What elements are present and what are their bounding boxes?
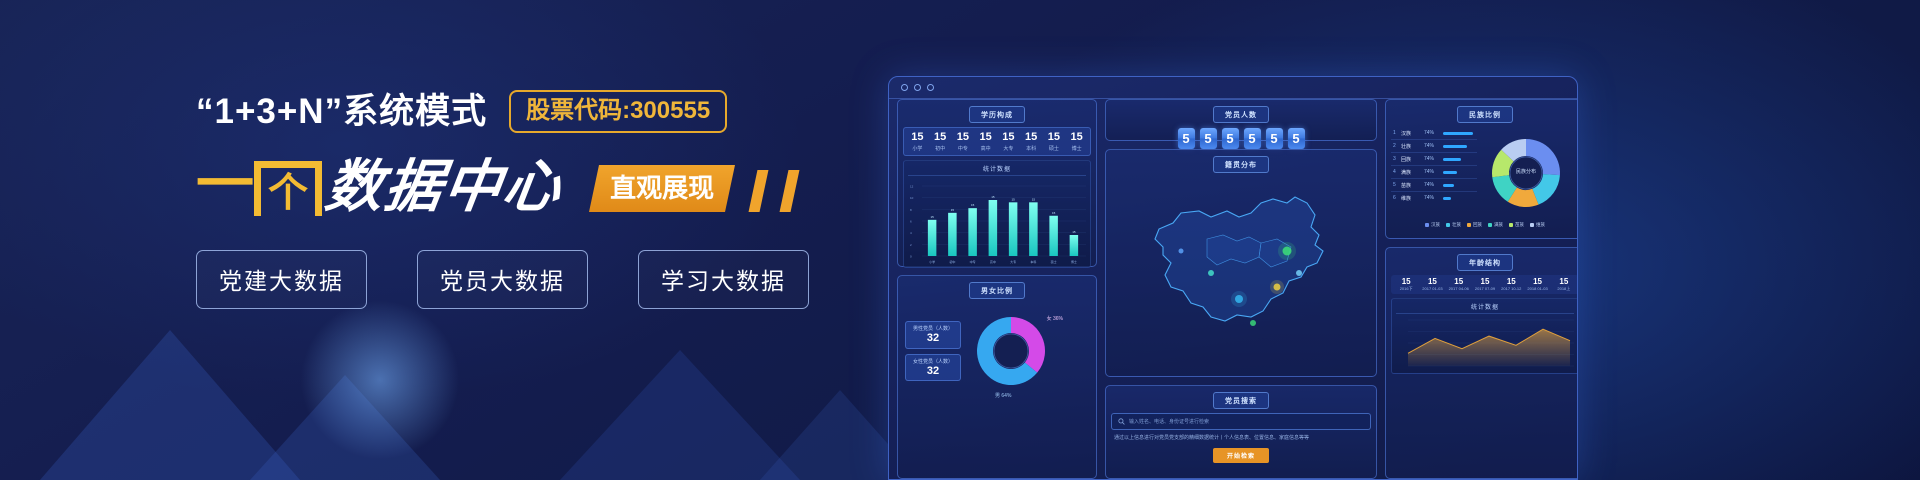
metric-value: 15 [1071,132,1083,144]
row-bar [1443,158,1461,161]
metric-value: 15 [1446,278,1472,286]
age-metric-row: 15 2016下 15 2017 01-03 15 2017 04-06 1 [1391,275,1578,294]
search-icon [1118,418,1125,425]
row-name: 壮族 [1401,143,1421,150]
count-digit: 5 [1288,128,1305,149]
headline-row-2: 一 个 数据中心 直观展现 [196,150,836,216]
gender-male-stat: 男性党员（人数） 32 [905,321,961,348]
row-name: 汉族 [1401,130,1421,137]
panel-gender-title: 男女比例 [969,282,1025,299]
dashboard-column-center: 党员人数 5 5 5 5 5 5 籍贯分布 [1105,99,1377,479]
svg-text:15: 15 [930,214,934,218]
gender-female-value: 32 [912,365,954,377]
dashboard-mockup: 学历构成 15 小学 15 初中 15 中专 [888,76,1578,480]
panel-education: 学历构成 15 小学 15 初中 15 中专 [897,99,1097,267]
metric-item: 15 2016下 [1393,278,1419,292]
dashboard-column-left: 学历构成 15 小学 15 初中 15 中专 [897,99,1097,479]
legend-entry: 壮族 [1446,222,1461,228]
system-mode-text: “1+3+N”系统模式 [196,92,487,131]
row-pct: 74% [1424,130,1440,136]
row-name: 苗族 [1401,182,1421,189]
metric-item: 15 2017 01-03 [1419,278,1445,292]
svg-text:15: 15 [991,195,995,199]
list-item: 2 壮族 74% [1391,140,1477,153]
row-pct: 74% [1424,169,1440,175]
metric-item: 15 2017 10-12 [1498,278,1524,292]
row-index: 6 [1393,195,1398,201]
svg-text:0: 0 [910,254,912,258]
row-index: 1 [1393,130,1398,136]
legend-swatch [1467,223,1471,227]
metric-value: 15 [980,132,992,144]
metric-value: 15 [934,132,946,144]
legend-swatch [1530,223,1534,227]
count-digit: 5 [1222,128,1239,149]
svg-text:8: 8 [910,207,912,211]
list-item: 5 苗族 74% [1391,179,1477,192]
legend-entry: 汉族 [1425,222,1440,228]
legend-entry: 满族 [1488,222,1503,228]
panel-age-title: 年龄结构 [1457,254,1513,271]
metric-label: 2017 10-12 [1498,286,1524,291]
legend-swatch [1446,223,1450,227]
metric-item: 15 高中 [980,132,992,152]
svg-text:初中: 初中 [949,259,955,264]
gender-male-label: 男性党员（人数） [912,325,954,332]
metric-value: 15 [1524,278,1550,286]
promo-banner: “1+3+N”系统模式 股票代码:300555 一 个 数据中心 直观展现 党建… [0,0,1920,480]
metric-item: 15 硕士 [1048,132,1060,152]
row-bar [1443,197,1451,200]
row-pct: 74% [1424,156,1440,162]
list-item: 4 满族 74% [1391,166,1477,179]
stock-code-badge: 股票代码:300555 [509,90,727,133]
legend-label: 回族 [1473,222,1482,228]
panel-member-count-title: 党员人数 [1213,106,1269,123]
metric-label: 2018 01-03 [1524,286,1550,291]
svg-text:12: 12 [910,184,914,188]
ethnic-donut-center-label: 民族分布 [1480,168,1572,175]
metric-value: 15 [1048,132,1060,144]
list-item: 3 回族 74% [1391,153,1477,166]
metric-label: 高中 [980,145,992,152]
svg-text:6: 6 [910,219,912,223]
metric-label: 小学 [911,145,923,152]
decor-slash-1 [749,170,769,212]
metric-label: 2017 04-06 [1446,286,1472,291]
svg-text:15: 15 [951,207,955,211]
list-item: 6 维族 74% [1391,192,1477,204]
decor-glow [300,300,460,460]
panel-member-search: 党员搜索 输入姓名、电话、身份证号进行检索 通过以上信息进行对党员党支部的精细数… [1105,385,1377,479]
gender-stats: 男性党员（人数） 32 女性党员（人数） 32 [905,321,961,380]
svg-text:博士: 博士 [1071,259,1077,264]
metric-label: 2017 07-09 [1472,286,1498,291]
education-metric-row: 15 小学 15 初中 15 中专 15 高中 [903,127,1091,156]
metric-label: 大专 [1002,145,1014,152]
panel-search-title: 党员搜索 [1213,392,1269,409]
dashboard-column-right: 民族比例 1 汉族 74% 2 壮族 [1385,99,1578,479]
svg-text:2: 2 [910,242,912,246]
headline-yi: 一 [196,156,252,214]
row-name: 回族 [1401,156,1421,163]
pill-study-bigdata[interactable]: 学习大数据 [638,250,809,309]
show-badge: 直观展现 [589,165,735,212]
row-pct: 74% [1424,195,1440,201]
metric-item: 15 初中 [934,132,946,152]
search-placeholder: 输入姓名、电话、身份证号进行检索 [1129,418,1209,425]
legend-entry: 苗族 [1509,222,1524,228]
metric-item: 15 中专 [957,132,969,152]
metric-value: 15 [1393,278,1419,286]
row-index: 5 [1393,182,1398,188]
pill-party-member-bigdata[interactable]: 党员大数据 [417,250,588,309]
panel-ethnic: 民族比例 1 汉族 74% 2 壮族 [1385,99,1578,239]
legend-label: 满族 [1494,222,1503,228]
metric-item: 15 本科 [1025,132,1037,152]
dashboard-titlebar [889,77,1577,99]
row-pct: 74% [1424,182,1440,188]
svg-text:4: 4 [910,231,912,235]
age-area-chart-svg [1396,316,1578,374]
svg-text:本科: 本科 [1030,259,1036,264]
gender-female-label: 女性党员（人数） [912,358,954,365]
legend-swatch [1425,223,1429,227]
legend-label: 苗族 [1515,222,1524,228]
metric-item: 15 2018 01-03 [1524,278,1550,292]
dashboard-body: 学历构成 15 小学 15 初中 15 中专 [897,99,1569,479]
legend-entry: 回族 [1467,222,1482,228]
metric-value: 15 [1498,278,1524,286]
metric-label: 初中 [934,145,946,152]
metric-item: 15 2017 07-09 [1472,278,1498,292]
gender-male-value: 32 [912,332,954,344]
row-bar [1443,171,1457,174]
metric-item: 15 2018上 [1551,278,1577,292]
svg-text:大专: 大专 [1010,259,1016,264]
row-name: 维族 [1401,195,1421,202]
big-headline: 一 个 数据中心 [196,158,562,216]
list-item: 1 汉族 74% [1391,127,1477,140]
window-dot-icon [901,84,908,91]
metric-item: 15 2017 04-06 [1446,278,1472,292]
row-index: 3 [1393,156,1398,162]
svg-text:高中: 高中 [990,259,996,264]
headline-ge-boxed: 个 [254,161,322,216]
svg-text:小学: 小学 [929,259,935,264]
count-digit: 5 [1178,128,1195,149]
gender-male-pct: 男 64% [995,392,1011,399]
chart-caption: 统计数据 [1396,302,1574,314]
svg-text:硕士: 硕士 [1051,259,1057,264]
svg-text:15: 15 [1072,230,1076,234]
gender-female-pct: 女 36% [1047,315,1063,322]
education-bar-chart: 统计数据 12108642015小学15初中15中专15高中15大专15本科15… [903,160,1091,268]
ethnic-donut-legend: 汉族 壮族 回族 满族 苗族 维族 [1391,222,1578,228]
metric-value: 15 [957,132,969,144]
panel-ethnic-title: 民族比例 [1457,106,1513,123]
row-bar [1443,132,1473,135]
legend-swatch [1488,223,1492,227]
row-index: 4 [1393,169,1398,175]
metric-value: 15 [1419,278,1445,286]
svg-text:10: 10 [910,196,914,200]
decor-slash-2 [780,170,800,212]
legend-label: 维族 [1536,222,1545,228]
count-digit: 5 [1200,128,1217,149]
row-bar [1443,184,1454,187]
count-digit: 5 [1244,128,1261,149]
metric-item: 15 大专 [1002,132,1014,152]
pill-party-building-bigdata[interactable]: 党建大数据 [196,250,367,309]
row-bar [1443,145,1467,148]
count-digit: 5 [1266,128,1283,149]
metric-label: 2018上 [1551,286,1577,292]
svg-text:15: 15 [1052,210,1056,214]
svg-text:15: 15 [1011,197,1015,201]
education-bar-chart-svg: 12108642015小学15初中15中专15高中15大专15本科15硕士15博… [908,178,1090,266]
panel-gender: 男女比例 男性党员（人数） 32 女性党员（人数） 32 [897,275,1097,479]
metric-item: 15 博士 [1071,132,1083,152]
headline-datacenter: 数据中心 [322,159,566,216]
legend-swatch [1509,223,1513,227]
svg-text:15: 15 [971,203,975,207]
gender-donut-svg [965,305,1057,397]
svg-text:中专: 中专 [970,259,976,264]
system-mode-title: “1+3+N”系统模式 [196,94,487,129]
window-dot-icon [914,84,921,91]
metric-label: 中专 [957,145,969,152]
gender-chart-area: 男性党员（人数） 32 女性党员（人数） 32 女 36% 男 64% [903,303,1091,399]
row-name: 满族 [1401,169,1421,176]
panel-age-structure: 年龄结构 15 2016下 15 2017 01-03 15 2017 04-0 [1385,247,1578,479]
china-map-svg [1111,177,1369,353]
feature-pills: 党建大数据 党员大数据 学习大数据 [196,250,836,309]
legend-label: 壮族 [1452,222,1461,228]
panel-member-count: 党员人数 5 5 5 5 5 5 [1105,99,1377,141]
chart-caption: 统计数据 [908,164,1086,176]
metric-value: 15 [1002,132,1014,144]
metric-label: 硕士 [1048,145,1060,152]
member-count-digits: 5 5 5 5 5 5 [1111,127,1371,149]
metric-item: 15 小学 [911,132,923,152]
metric-value: 15 [1472,278,1498,286]
row-pct: 74% [1424,143,1440,149]
start-search-button[interactable]: 开始检索 [1213,448,1269,463]
metric-label: 本科 [1025,145,1037,152]
legend-label: 汉族 [1431,222,1440,228]
banner-copy: “1+3+N”系统模式 股票代码:300555 一 个 数据中心 直观展现 党建… [196,88,836,309]
panel-education-title: 学历构成 [969,106,1025,123]
metric-value: 15 [911,132,923,144]
metric-label: 2017 01-03 [1419,286,1445,291]
row-index: 2 [1393,143,1398,149]
gender-female-stat: 女性党员（人数） 32 [905,354,961,381]
metric-label: 博士 [1071,145,1083,152]
metric-value: 15 [1025,132,1037,144]
age-area-chart: 统计数据 [1391,298,1578,374]
panel-origin-title: 籍贯分布 [1213,156,1269,173]
show-badge-label: 直观展现 [610,175,714,201]
metric-label: 2016下 [1393,286,1419,292]
panel-origin-map: 籍贯分布 [1105,149,1377,377]
svg-text:15: 15 [1032,197,1036,201]
headline-row-1: “1+3+N”系统模式 股票代码:300555 [196,88,836,134]
legend-entry: 维族 [1530,222,1545,228]
window-dot-icon [927,84,934,91]
ethnic-legend-list: 1 汉族 74% 2 壮族 74% [1391,127,1477,204]
member-search-input[interactable]: 输入姓名、电话、身份证号进行检索 [1111,413,1371,430]
search-description: 通过以上信息进行对党员党支部的精细数据统计丨个人信息表、位置信息、家庭信息等等 [1111,434,1371,443]
